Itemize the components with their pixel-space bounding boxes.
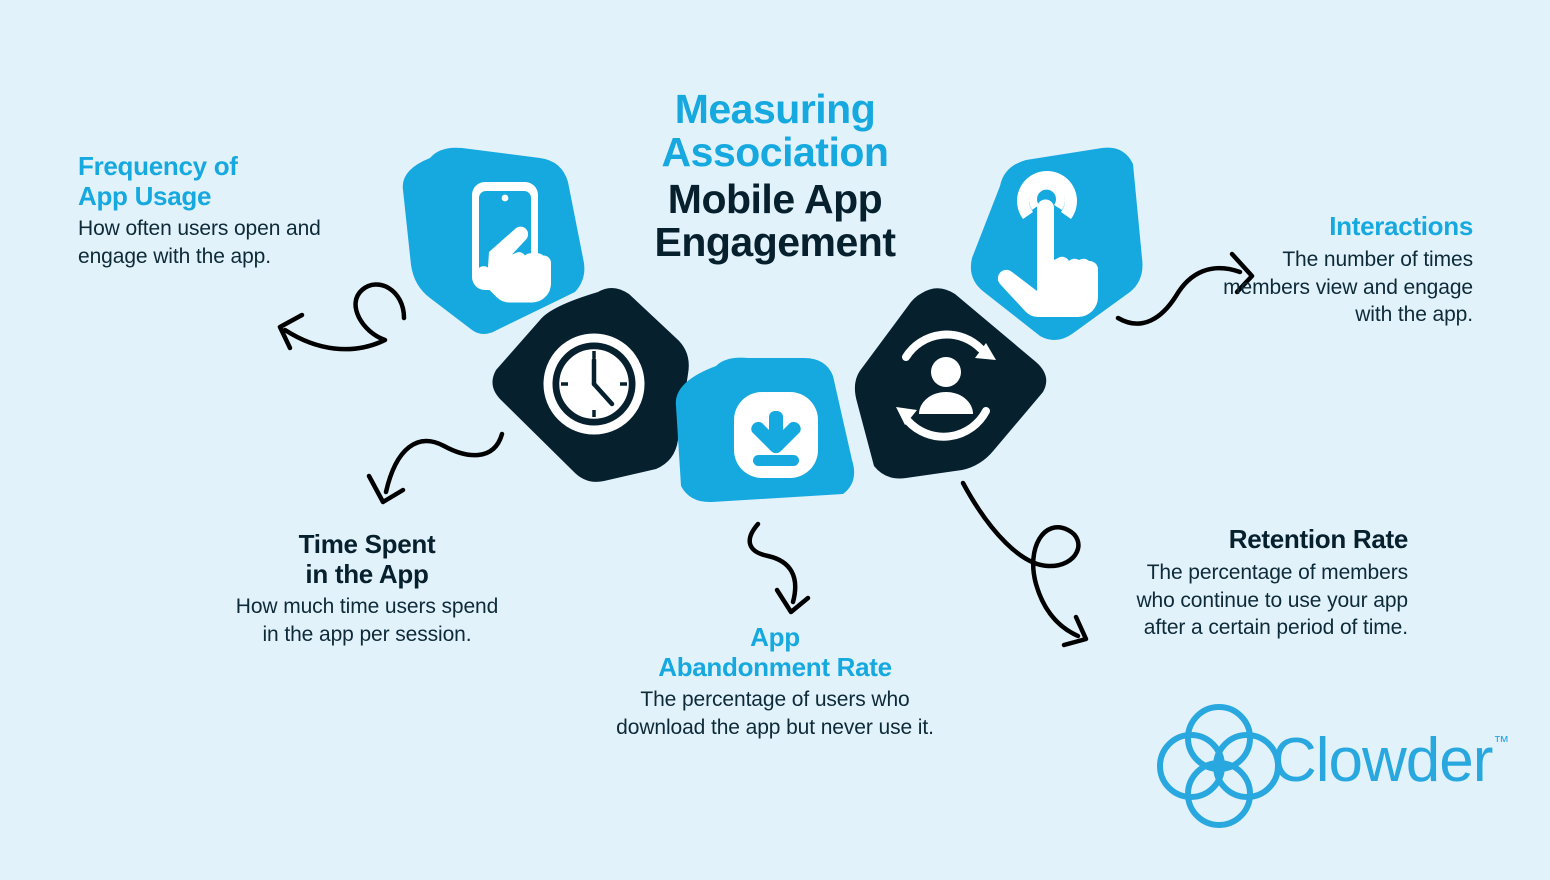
download-icon bbox=[734, 392, 818, 478]
metric-body-interactions: The number of times members view and eng… bbox=[1218, 246, 1473, 330]
metric-body-timespent: How much time users spend in the app per… bbox=[232, 593, 502, 649]
metric-block-interactions: Interactions The number of times members… bbox=[1218, 212, 1473, 329]
metric-heading-frequency: Frequency of App Usage bbox=[78, 152, 328, 211]
metric-heading-retention-line1: Retention Rate bbox=[1229, 524, 1408, 554]
metric-heading-interactions: Interactions bbox=[1218, 212, 1473, 242]
arrow-to-abandonment bbox=[750, 524, 808, 612]
metric-body-frequency: How often users open and engage with the… bbox=[78, 215, 328, 271]
metric-heading-timespent-line1: Time Spent bbox=[299, 529, 436, 559]
logo-wordmark: Clowder bbox=[1272, 730, 1492, 792]
metric-heading-abandonment-line2: Abandonment Rate bbox=[658, 652, 892, 682]
logo-trademark-symbol: ™ bbox=[1493, 734, 1509, 752]
metric-heading-interactions-line1: Interactions bbox=[1329, 211, 1473, 241]
arrow-to-timespent bbox=[369, 434, 502, 502]
arrow-to-retention bbox=[963, 483, 1086, 645]
metric-heading-abandonment: App Abandonment Rate bbox=[595, 623, 955, 682]
metric-heading-timespent: Time Spent in the App bbox=[232, 530, 502, 589]
clock-icon bbox=[548, 338, 640, 430]
metric-heading-frequency-line1: Frequency of bbox=[78, 151, 238, 181]
metric-heading-timespent-line2: in the App bbox=[305, 559, 428, 589]
clowder-logo[interactable]: Clowder ™ bbox=[1178, 726, 1478, 816]
metric-body-abandonment: The percentage of users who download the… bbox=[595, 686, 955, 742]
metric-block-app-abandonment-rate: App Abandonment Rate The percentage of u… bbox=[595, 623, 955, 742]
title-line-3: Mobile App bbox=[575, 178, 975, 221]
blob-shape-phone-tap bbox=[403, 148, 585, 334]
metric-heading-retention: Retention Rate bbox=[1120, 525, 1408, 555]
title-line-1: Measuring bbox=[575, 88, 975, 131]
icon-node-download[interactable] bbox=[676, 358, 854, 502]
title-line-2: Association bbox=[575, 131, 975, 174]
icon-node-phone-tap[interactable] bbox=[403, 148, 585, 334]
metric-body-retention: The percentage of members who continue t… bbox=[1120, 559, 1408, 643]
infographic-canvas: Measuring Association Mobile App Engagem… bbox=[0, 0, 1550, 880]
arrow-to-frequency bbox=[280, 285, 404, 350]
metric-block-time-spent-in-the-app: Time Spent in the App How much time user… bbox=[232, 530, 502, 649]
metric-block-retention-rate: Retention Rate The percentage of members… bbox=[1120, 525, 1408, 642]
page-title: Measuring Association Mobile App Engagem… bbox=[575, 88, 975, 265]
metric-heading-abandonment-line1: App bbox=[750, 622, 800, 652]
title-line-4: Engagement bbox=[575, 221, 975, 264]
metric-block-frequency-of-app-usage: Frequency of App Usage How often users o… bbox=[78, 152, 328, 271]
metric-heading-frequency-line2: App Usage bbox=[78, 181, 211, 211]
icon-node-touch-tap[interactable] bbox=[971, 148, 1143, 340]
